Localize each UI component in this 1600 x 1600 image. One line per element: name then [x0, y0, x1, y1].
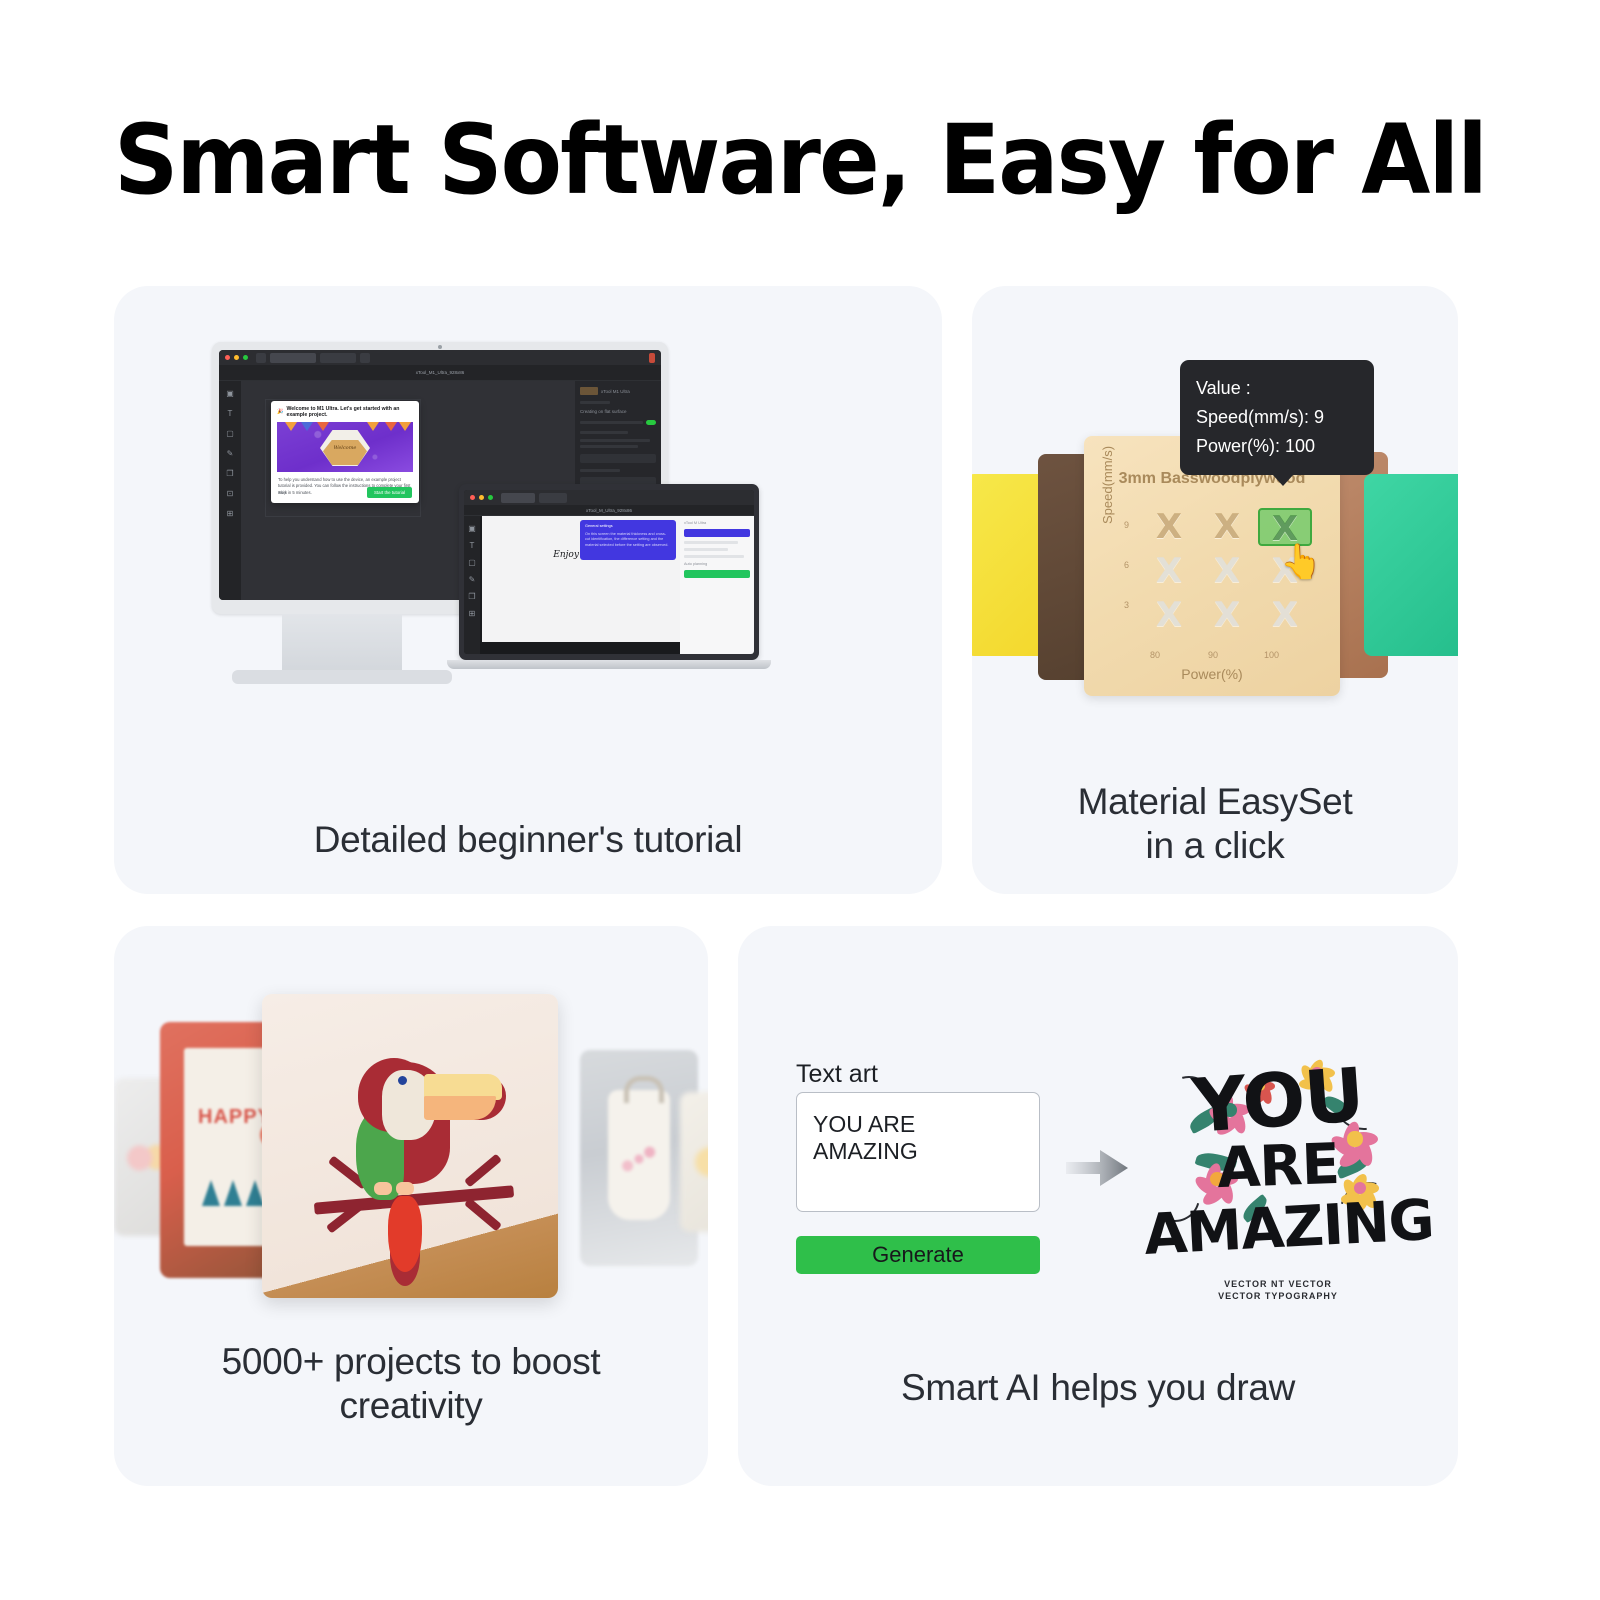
cell-3-80[interactable]: X	[1142, 596, 1196, 634]
bag-print	[620, 1142, 658, 1176]
welcome-modal-title: 🎉 Welcome to M1 Ultra. Let's get started…	[271, 401, 419, 422]
cell-9-90[interactable]: X	[1200, 508, 1254, 546]
x-tick-100: 100	[1264, 650, 1279, 660]
laptop-os-bar	[464, 490, 754, 505]
grid-tool-icon[interactable]: ⊞	[468, 609, 477, 618]
laptop-device: xTool_M_Ultra_928x86 ▣ T ▢ ✎ ❐ ⊞ Enjoy T…	[459, 484, 789, 676]
window-close-dot[interactable]	[470, 495, 475, 500]
swatch-green-acrylic	[1364, 474, 1458, 656]
set-all-materials-button[interactable]	[684, 570, 750, 578]
y-tick-9: 9	[1124, 520, 1129, 530]
window-close-dot[interactable]	[225, 355, 230, 360]
panel-mode-row: Creating on flat surface	[580, 409, 656, 414]
y-tick-3: 3	[1124, 600, 1129, 610]
caption-line-1: 5000+ projects to boost	[114, 1340, 708, 1384]
welcome-hero-image: Welcome	[277, 422, 413, 472]
board-x-axis-label: Power(%)	[1084, 666, 1340, 682]
monitor-os-bar	[219, 350, 661, 365]
caption-project-gallery: 5000+ projects to boost creativity	[114, 1340, 708, 1427]
hand-cursor-icon: 👆	[1280, 542, 1322, 582]
board-y-axis-label: Speed(mm/s)	[1100, 446, 1115, 524]
caption-material-easyset: Material EasySet in a click	[972, 780, 1458, 867]
browser-active-tab[interactable]	[270, 353, 316, 363]
card-project-gallery: HAPPY	[114, 926, 708, 1486]
laptop-screen: xTool_M_Ultra_928x86 ▣ T ▢ ✎ ❐ ⊞ Enjoy T…	[464, 490, 754, 654]
pine-tree-icon	[224, 1180, 242, 1206]
browser-new-tab[interactable]	[360, 353, 370, 363]
card-material-easyset: 3mm Basswoodplywood Speed(mm/s) 9 6 3 X …	[972, 286, 1458, 894]
cell-9-80[interactable]: X	[1142, 508, 1196, 546]
parrot-illustration	[320, 1040, 510, 1264]
window-maximize-dot[interactable]	[243, 355, 248, 360]
parrot-foot	[374, 1182, 392, 1195]
panel-toggle-row	[580, 420, 656, 425]
easyset-tooltip: Value : Speed(mm/s): 9 Power(%): 100	[1180, 360, 1374, 475]
laptop-tip-popup: General settings On this screen the mate…	[580, 520, 676, 560]
welcome-modal: 🎉 Welcome to M1 Ultra. Let's get started…	[271, 401, 419, 503]
x-tick-80: 80	[1150, 650, 1160, 660]
artwork-footer: VECTOR NT VECTOR VECTOR TYPOGRAPHY	[1144, 1278, 1412, 1302]
artwork-footer-line-1: VECTOR NT VECTOR	[1144, 1278, 1412, 1290]
thumbnail-cookie-craft[interactable]	[680, 1092, 708, 1232]
window-maximize-dot[interactable]	[488, 495, 493, 500]
bunting-flag	[385, 422, 397, 431]
window-minimize-dot[interactable]	[479, 495, 484, 500]
shape-tool-icon[interactable]: ▢	[226, 429, 235, 438]
tip-body: On this screen the material thickness an…	[585, 532, 671, 549]
frame-tool-icon[interactable]: ⊡	[226, 489, 235, 498]
card-detailed-tutorial: xTool_M1_Ultra_928x86 ▣ T ▢ ✎ ❐ ⊡ ⊞ 🎉	[114, 286, 942, 894]
hero-hexagon-engraving: Welcome	[323, 440, 367, 465]
card-smart-ai: Text art Generate	[738, 926, 1458, 1486]
panel-device-row: xTool M1 Ultra	[580, 387, 656, 395]
cell-3-100[interactable]: X	[1258, 596, 1312, 634]
layers-tool-icon[interactable]: ❐	[468, 592, 477, 601]
panel-divider	[580, 401, 610, 404]
monitor-app-bar: xTool_M1_Ultra_928x86	[219, 365, 661, 381]
pen-tool-icon[interactable]: ✎	[226, 449, 235, 458]
tooltip-speed-line: Speed(mm/s): 9	[1196, 403, 1358, 432]
grid-tool-icon[interactable]: ⊞	[226, 509, 235, 518]
monitor-stand	[282, 614, 402, 676]
tooltip-value-label: Value :	[1196, 374, 1358, 403]
monitor-tool-rail: ▣ T ▢ ✎ ❐ ⊡ ⊞	[219, 381, 241, 600]
browser-home-tab[interactable]	[256, 353, 266, 363]
rich-surface-toggle[interactable]	[646, 420, 656, 425]
welcome-modal-actions: Skip Start the tutorial	[271, 487, 419, 498]
laptop-panel-device: xTool M Ultra	[684, 521, 750, 525]
start-current-window-button[interactable]	[684, 529, 750, 537]
bunting-flag	[301, 422, 313, 431]
text-tool-icon[interactable]: T	[468, 541, 477, 550]
cell-3-90[interactable]: X	[1200, 596, 1254, 634]
flow-arrow-icon	[1066, 1148, 1128, 1188]
text-art-input[interactable]	[796, 1092, 1040, 1212]
laptop-panel-auto: Auto planning	[684, 562, 750, 566]
bunting-flag	[367, 422, 379, 431]
pen-tool-icon[interactable]: ✎	[468, 575, 477, 584]
bunting-flag	[285, 422, 297, 431]
caption-line-2: in a click	[972, 824, 1458, 868]
bag-shape	[608, 1090, 670, 1220]
laptop-base	[447, 660, 771, 669]
start-tutorial-button[interactable]: Start the tutorial	[367, 487, 412, 498]
happy-label: HAPPY	[198, 1106, 272, 1129]
skip-button[interactable]: Skip	[278, 490, 287, 495]
bunting-flag	[399, 422, 411, 431]
twig-shape	[464, 1198, 502, 1232]
party-icon: 🎉	[277, 409, 283, 415]
generated-text-artwork: YOU ARE AMAZING VECTOR NT VECTOR VECTOR …	[1144, 1022, 1412, 1308]
browser-second-tab[interactable]	[320, 353, 356, 363]
cell-6-80[interactable]: X	[1142, 552, 1196, 590]
laptop-lid: xTool_M_Ultra_928x86 ▣ T ▢ ✎ ❐ ⊞ Enjoy T…	[459, 484, 759, 660]
image-tool-icon[interactable]: ▣	[226, 389, 235, 398]
monitor-base	[232, 670, 452, 684]
caption-detailed-tutorial: Detailed beginner's tutorial	[114, 818, 942, 862]
laptop-app-bar: xTool_M_Ultra_928x86	[464, 505, 754, 516]
caption-line-1: Material EasySet	[972, 780, 1458, 824]
tooltip-power-line: Power(%): 100	[1196, 432, 1358, 461]
cell-9-100-selected[interactable]: X	[1258, 508, 1312, 546]
y-tick-6: 6	[1124, 560, 1129, 570]
laptop-properties-panel: xTool M Ultra Auto planning	[680, 516, 754, 654]
cell-6-90[interactable]: X	[1200, 552, 1254, 590]
app-title: xTool_M1_Ultra_928x86	[416, 370, 465, 375]
tip-title: General settings	[585, 524, 671, 530]
twig-shape	[464, 1154, 502, 1188]
parrot-tail	[388, 1196, 422, 1272]
image-tool-icon[interactable]: ▣	[468, 524, 477, 533]
artwork-footer-line-2: VECTOR TYPOGRAPHY	[1144, 1290, 1412, 1302]
mark-button[interactable]	[580, 454, 656, 463]
layers-tool-icon[interactable]: ❐	[226, 469, 235, 478]
text-art-label: Text art	[796, 1060, 878, 1089]
x-tick-90: 90	[1208, 650, 1218, 660]
thumbnail-layered-parrot-art[interactable]	[262, 994, 558, 1298]
caption-smart-ai: Smart AI helps you draw	[738, 1366, 1458, 1410]
notification-badge-icon[interactable]	[649, 353, 655, 363]
pine-tree-icon	[202, 1180, 220, 1206]
shape-tool-icon[interactable]: ▢	[468, 558, 477, 567]
laptop-second-tab[interactable]	[539, 493, 567, 503]
text-tool-icon[interactable]: T	[226, 409, 235, 418]
laptop-app-title: xTool_M_Ultra_928x86	[586, 508, 632, 513]
artwork-word-amazing: AMAZING	[1142, 1189, 1413, 1268]
page-title: Smart Software, Easy for All	[56, 104, 1544, 216]
parrot-eye	[396, 1074, 409, 1087]
laptop-active-tab[interactable]	[501, 493, 535, 503]
laptop-tool-rail: ▣ T ▢ ✎ ❐ ⊞	[464, 516, 480, 654]
window-minimize-dot[interactable]	[234, 355, 239, 360]
parrot-foot	[396, 1182, 414, 1195]
feature-grid-page: Smart Software, Easy for All xTool_M1_Ul…	[0, 0, 1600, 1600]
cookie-shape	[688, 1140, 708, 1184]
caption-line-2: creativity	[114, 1384, 708, 1428]
parrot-beak-lower	[424, 1096, 496, 1120]
generate-button[interactable]: Generate	[796, 1236, 1040, 1274]
bunting-flag	[317, 422, 329, 431]
